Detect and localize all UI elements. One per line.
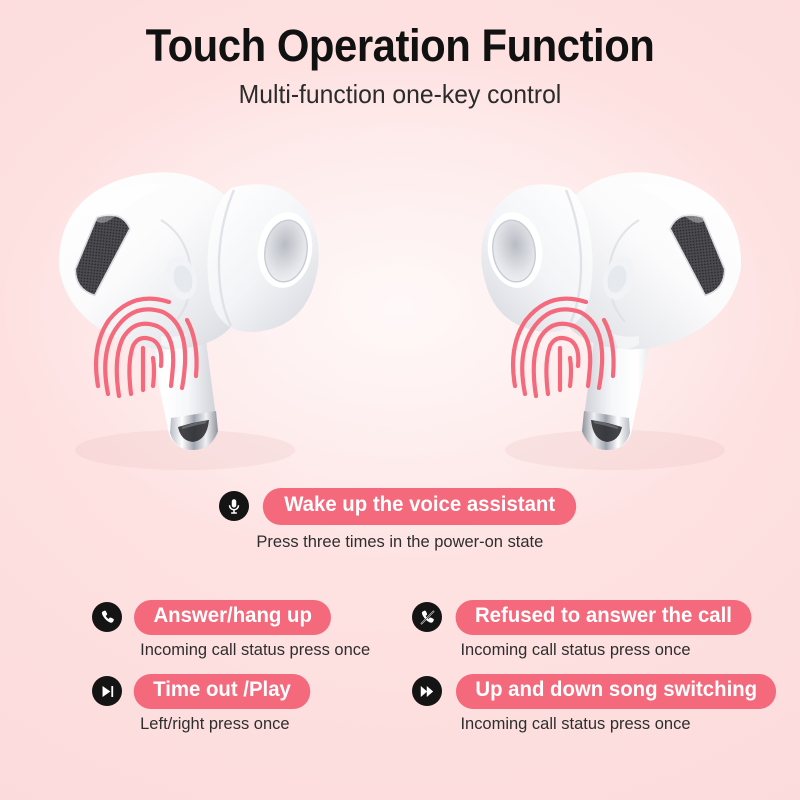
product-stage [0, 150, 800, 480]
feature-item: Time out /Play Left/right press once [92, 674, 412, 734]
feature-label: Answer/hang up [134, 600, 331, 635]
feature-note: Incoming call status press once [140, 640, 408, 660]
left-earbud-illustration [35, 150, 335, 480]
phone-handset-slash-icon [412, 602, 442, 632]
infographic-poster: Touch Operation Function Multi-function … [0, 0, 800, 800]
fast-forward-icon [412, 676, 442, 706]
right-earbud-illustration [465, 150, 765, 480]
voice-assistant-note: Press three times in the power-on state [257, 532, 544, 552]
header: Touch Operation Function Multi-function … [0, 22, 800, 110]
voice-assistant-feature: Wake up the voice assistant Press three … [0, 488, 800, 552]
feature-note: Incoming call status press once [460, 714, 747, 734]
right-earbud [465, 150, 765, 480]
microphone-icon [219, 491, 249, 521]
feature-item: Refused to answer the call Incoming call… [412, 600, 752, 660]
feature-label: Up and down song switching [456, 674, 777, 709]
voice-assistant-label: Wake up the voice assistant [263, 488, 577, 525]
feature-label: Refused to answer the call [456, 600, 752, 635]
skip-to-end-icon [92, 676, 122, 706]
feature-list: Answer/hang up Incoming call status pres… [0, 600, 800, 734]
feature-note: Left/right press once [140, 714, 408, 734]
feature-item: Answer/hang up Incoming call status pres… [92, 600, 412, 660]
feature-note: Incoming call status press once [460, 640, 747, 660]
phone-handset-icon [92, 602, 122, 632]
page-subtitle: Multi-function one-key control [20, 79, 780, 110]
feature-item: Up and down song switching Incoming call… [412, 674, 752, 734]
feature-label: Time out /Play [134, 674, 311, 709]
page-title: Touch Operation Function [28, 22, 772, 70]
left-earbud [35, 150, 335, 480]
